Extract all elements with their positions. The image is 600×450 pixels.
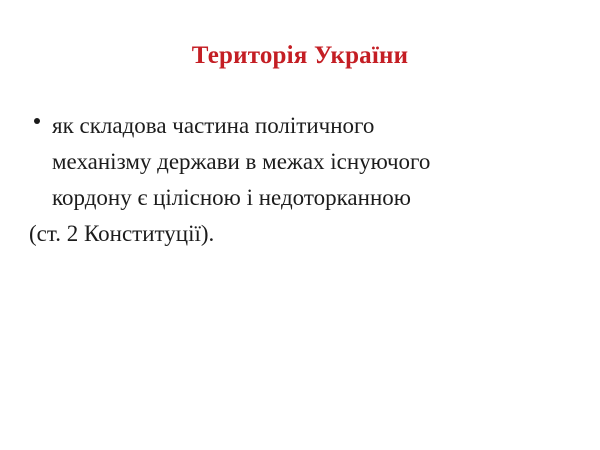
list-item-text: як складова частина політичного механізм… <box>52 108 600 216</box>
page-title: Територія України <box>0 41 600 71</box>
slide-body: як складова частина політичного механізм… <box>0 108 600 252</box>
body-line-2: механізму держави в межах існуючого <box>52 144 600 180</box>
body-line-3: кордону є цілісною і недоторканною <box>52 180 600 216</box>
body-line-1: як складова частина політичного <box>52 108 600 144</box>
list-item: як складова частина політичного механізм… <box>0 108 600 216</box>
slide-content: Територія України як складова частина по… <box>0 0 600 450</box>
citation-line: (ст. 2 Конституції). <box>29 216 600 252</box>
bullet-dot-icon <box>34 118 40 124</box>
slide-canvas: Територія України як складова частина по… <box>0 0 600 450</box>
